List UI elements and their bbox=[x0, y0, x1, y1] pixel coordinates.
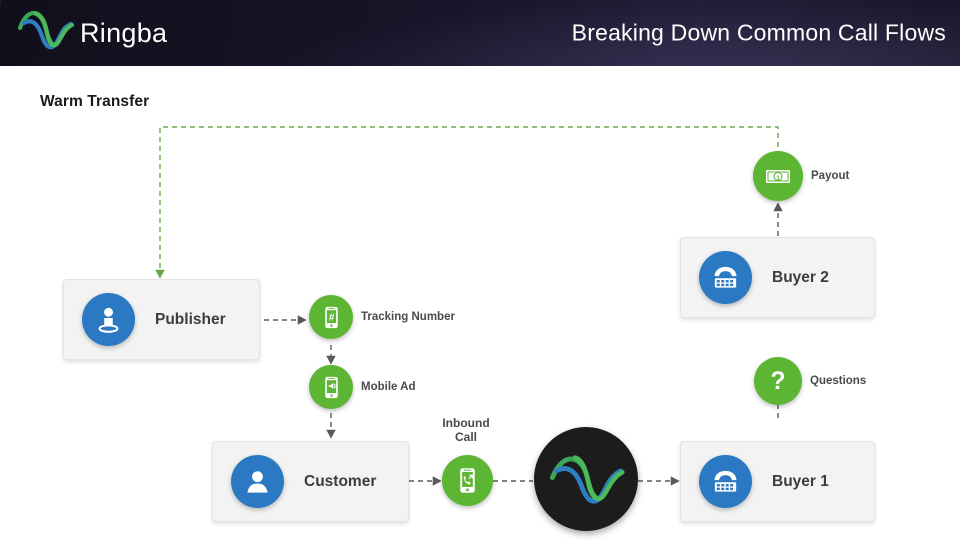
diagram-title: Warm Transfer bbox=[40, 93, 149, 111]
banknote-icon: 1 bbox=[753, 151, 803, 201]
svg-text:1: 1 bbox=[776, 175, 780, 182]
desk-phone-icon bbox=[699, 455, 752, 508]
publisher-label: Publisher bbox=[155, 311, 226, 329]
node-tracking-number[interactable]: # Tracking Number bbox=[309, 295, 455, 339]
node-customer[interactable]: Customer bbox=[212, 441, 409, 522]
customer-label: Customer bbox=[304, 473, 376, 491]
buyer-1-label: Buyer 1 bbox=[772, 473, 829, 491]
ringba-wave-logo-icon bbox=[534, 427, 638, 531]
question-mark-icon: ? bbox=[754, 357, 802, 405]
mobile-hash-icon: # bbox=[309, 295, 353, 339]
publisher-person-pedestal-icon bbox=[82, 293, 135, 346]
node-inbound-call[interactable] bbox=[442, 455, 493, 506]
mobile-ad-label: Mobile Ad bbox=[361, 381, 416, 393]
node-publisher[interactable]: Publisher bbox=[63, 279, 260, 360]
diagram-canvas: Warm Transfer bbox=[0, 66, 960, 540]
questions-label: Questions bbox=[810, 375, 866, 387]
svg-text:#: # bbox=[328, 312, 334, 323]
svg-text:?: ? bbox=[770, 367, 785, 395]
desk-phone-icon bbox=[699, 251, 752, 304]
payout-label: Payout bbox=[811, 170, 849, 182]
page-title: Breaking Down Common Call Flows bbox=[572, 20, 946, 47]
node-ringba-hub[interactable] bbox=[534, 427, 638, 531]
inbound-call-label: Inbound Call bbox=[421, 416, 511, 444]
ringba-wave-logo-icon bbox=[16, 8, 74, 59]
node-mobile-ad[interactable]: Mobile Ad bbox=[309, 365, 416, 409]
node-payout[interactable]: 1 Payout bbox=[753, 151, 849, 201]
page-header: Ringba Breaking Down Common Call Flows bbox=[0, 0, 960, 66]
mobile-megaphone-icon bbox=[309, 365, 353, 409]
node-questions[interactable]: ? Questions bbox=[754, 357, 866, 405]
node-buyer-1[interactable]: Buyer 1 bbox=[680, 441, 875, 522]
tracking-number-label: Tracking Number bbox=[361, 311, 455, 323]
brand-name: Ringba bbox=[80, 18, 167, 49]
buyer-2-label: Buyer 2 bbox=[772, 269, 829, 287]
brand-logo[interactable]: Ringba bbox=[16, 8, 167, 59]
node-buyer-2[interactable]: Buyer 2 bbox=[680, 237, 875, 318]
mobile-incoming-call-icon bbox=[442, 455, 493, 506]
customer-person-icon bbox=[231, 455, 284, 508]
